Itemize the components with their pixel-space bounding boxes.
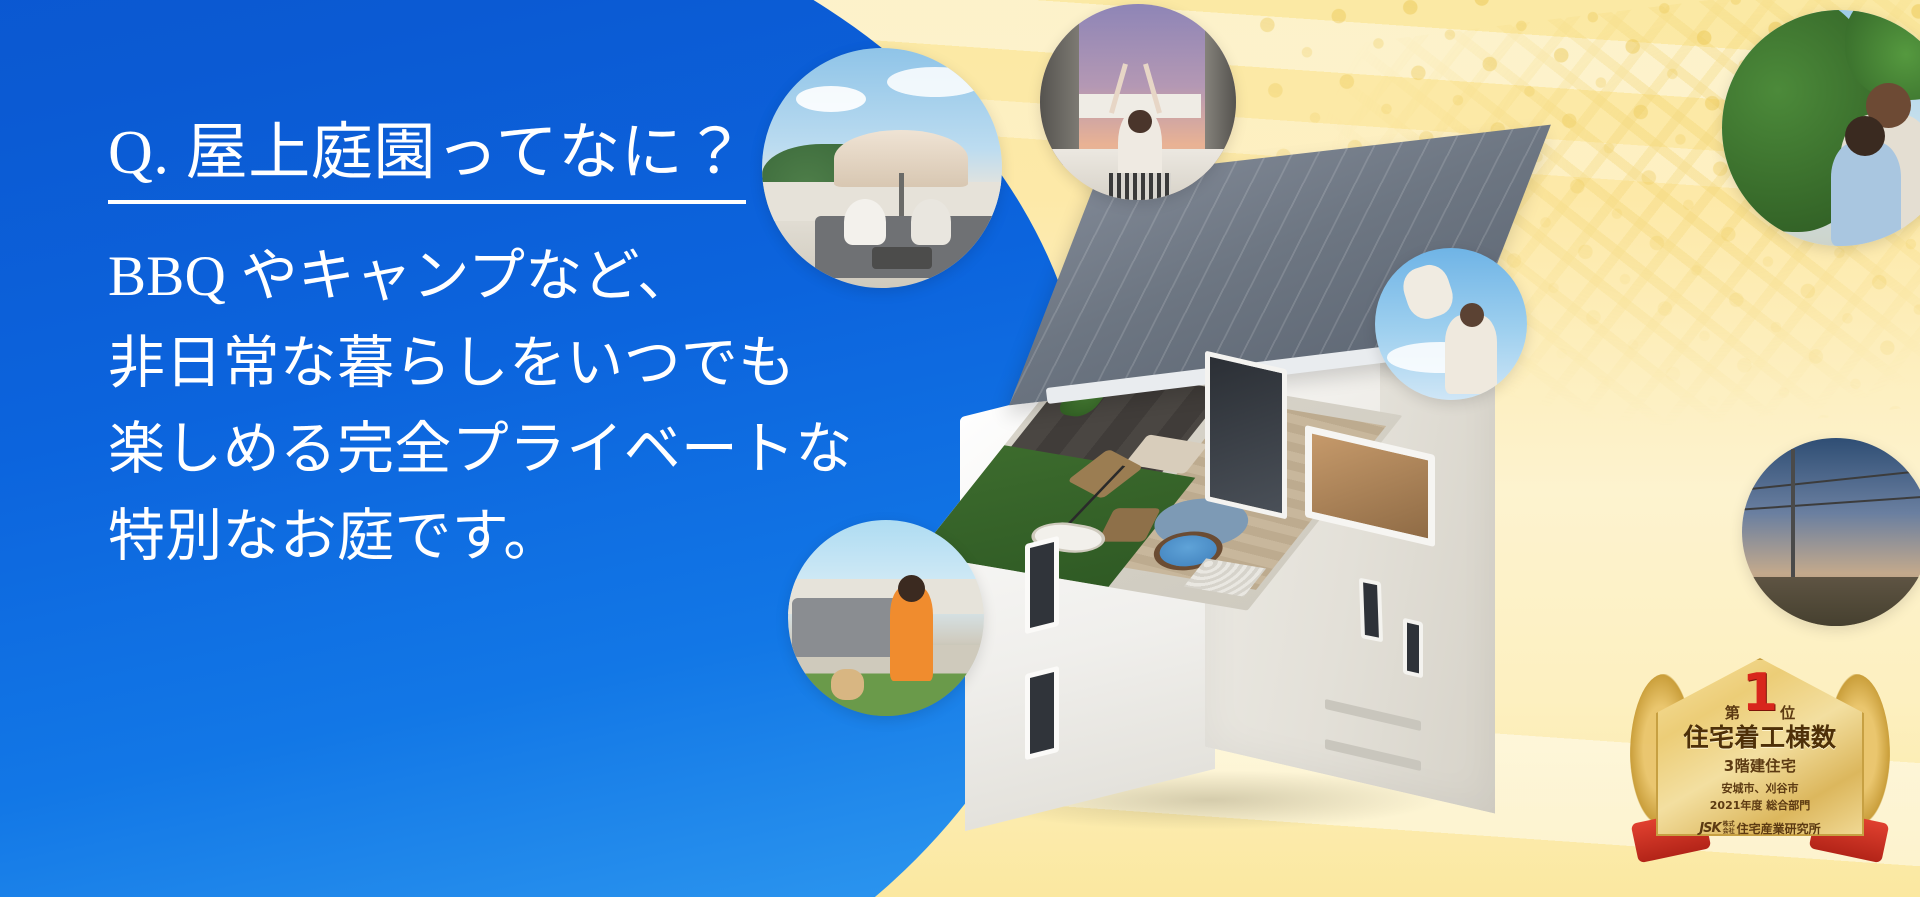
photo-utility-pole bbox=[1791, 449, 1795, 581]
badge-category: 住宅着工棟数 bbox=[1683, 725, 1836, 750]
badge-org-kabushiki: 株式会社 bbox=[1723, 822, 1735, 835]
photo-curtain-right bbox=[1205, 4, 1236, 165]
badge-rank-number: 1 bbox=[1742, 675, 1778, 712]
photo-rooftop-terrace-umbrella bbox=[762, 48, 1002, 288]
photo-person-child bbox=[1831, 142, 1902, 246]
rooftop-garden-house-illustration bbox=[905, 110, 1565, 850]
jsk-logo-icon: JSK bbox=[1699, 821, 1720, 836]
house-side-window-1 bbox=[1025, 536, 1059, 634]
house-window-slim-2 bbox=[1403, 618, 1423, 679]
photo-person-man bbox=[911, 199, 951, 245]
photo-yoga-at-window bbox=[1040, 4, 1236, 200]
photo-child-head bbox=[1845, 116, 1885, 156]
photo-low-table bbox=[872, 247, 932, 269]
body-line-3: 楽しめる完全プライベートな bbox=[108, 407, 948, 494]
badge-region: 安城市、刈谷市 bbox=[1722, 780, 1799, 796]
photo-father-child-sky bbox=[1375, 248, 1527, 400]
photo-person-woman bbox=[844, 199, 886, 245]
photo-skirt bbox=[1109, 173, 1172, 200]
photo-curtain-left bbox=[1040, 4, 1079, 165]
house-side-window-2 bbox=[1025, 666, 1059, 760]
page-title: Q. 屋上庭園ってなに？ bbox=[108, 118, 746, 204]
house-glass-door bbox=[1205, 351, 1287, 520]
badge-rank-row: 第 1 位 bbox=[1725, 688, 1795, 724]
photo-terrace-floor bbox=[1742, 577, 1920, 626]
banner-stage: Q. 屋上庭園ってなに？ BBQ やキャンプなど、 非日常な暮らしをいつでも 楽… bbox=[0, 0, 1920, 897]
photo-evening-terrace-lights bbox=[1742, 438, 1920, 626]
badge-organization: JSK 株式会社 住宅産業研究所 bbox=[1699, 820, 1820, 837]
badge-content: 第 1 位 住宅着工棟数 3階建住宅 安城市、刈谷市 2021年度 総合部門 J… bbox=[1656, 658, 1864, 836]
award-badge: 第 1 位 住宅着工棟数 3階建住宅 安城市、刈谷市 2021年度 総合部門 J… bbox=[1636, 652, 1884, 848]
badge-period: 2021年度 総合部門 bbox=[1710, 797, 1810, 813]
body-line-2: 非日常な暮らしをいつでも bbox=[108, 321, 948, 408]
photo-boy-and-dog-terrace bbox=[788, 520, 984, 716]
house-window-slim-1 bbox=[1359, 578, 1383, 643]
photo-cloud bbox=[887, 67, 983, 97]
badge-rank-suffix: 位 bbox=[1780, 706, 1795, 724]
photo-dog bbox=[831, 669, 864, 700]
badge-org-name: 住宅産業研究所 bbox=[1737, 820, 1821, 837]
badge-subcategory: 3階建住宅 bbox=[1724, 755, 1796, 776]
badge-rank-prefix: 第 bbox=[1725, 706, 1740, 724]
photo-head bbox=[1128, 110, 1152, 134]
photo-mother-child-gardening bbox=[1722, 10, 1920, 246]
